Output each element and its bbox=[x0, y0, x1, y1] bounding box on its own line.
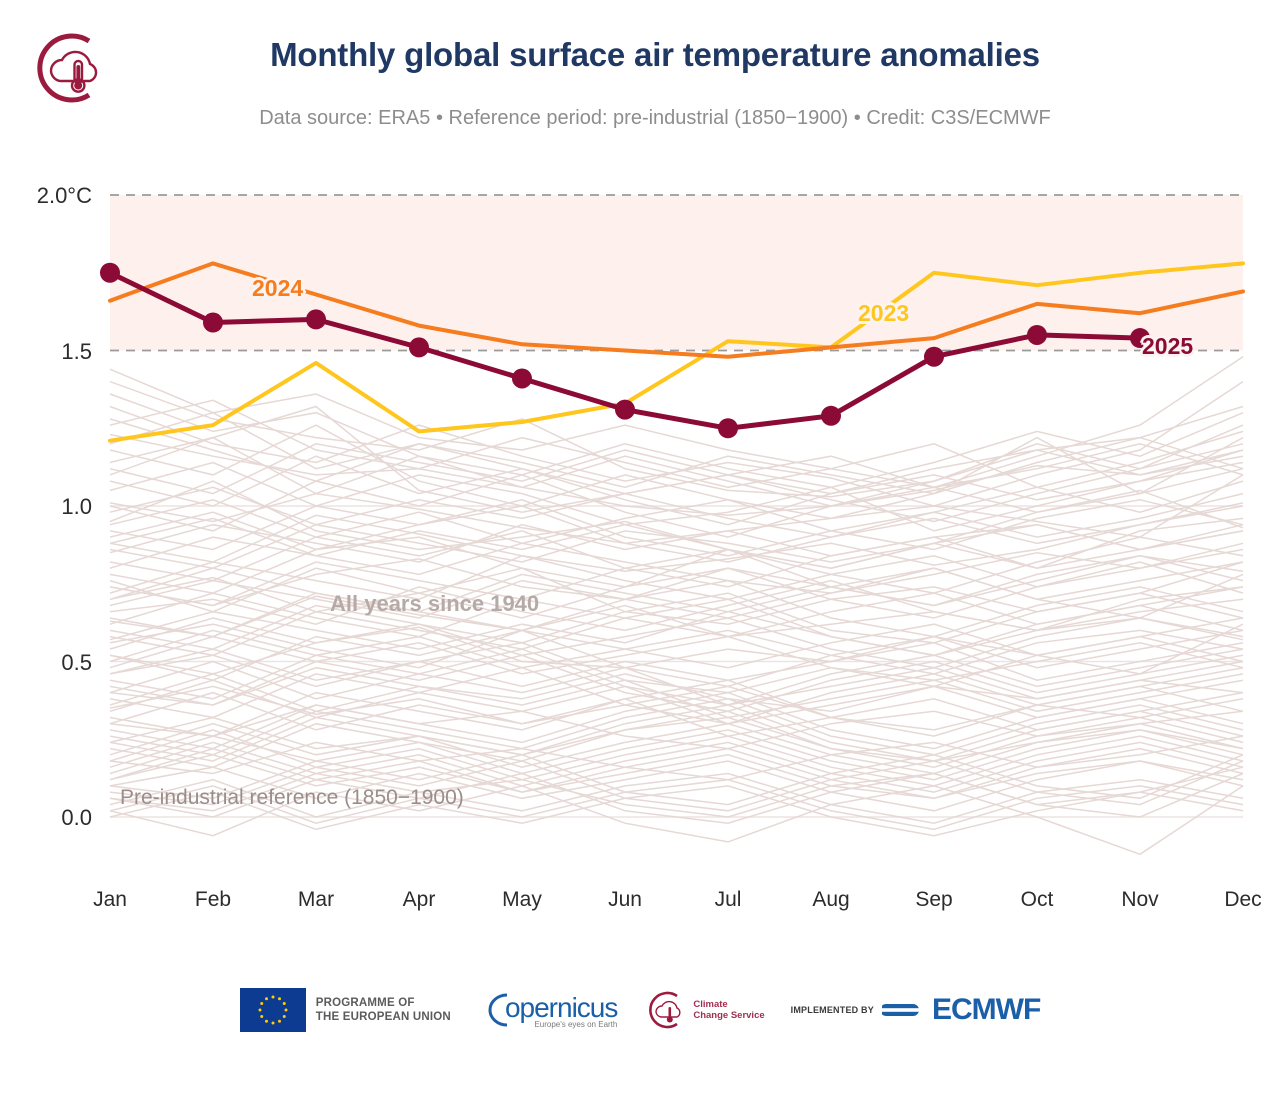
shaded-band bbox=[110, 195, 1243, 351]
c3s-thermometer-icon bbox=[643, 988, 687, 1032]
x-tick-apr: Apr bbox=[374, 888, 464, 912]
series-marker-2025 bbox=[203, 313, 223, 333]
eu-flag-icon bbox=[240, 988, 306, 1032]
c3s-text-line1: Climate bbox=[693, 999, 764, 1010]
ecmwf-wordmark: ECMWF bbox=[932, 993, 1040, 1027]
x-tick-jul: Jul bbox=[683, 888, 773, 912]
y-tick-0.5: 0.5 bbox=[0, 650, 92, 676]
eu-text-line2: THE EUROPEAN UNION bbox=[316, 1010, 451, 1024]
x-tick-may: May bbox=[477, 888, 567, 912]
background-year-line bbox=[110, 518, 1243, 568]
background-year-line bbox=[110, 562, 1243, 612]
x-tick-jun: Jun bbox=[580, 888, 670, 912]
series-marker-2025 bbox=[100, 263, 120, 283]
chart-page: Monthly global surface air temperature a… bbox=[0, 0, 1280, 1097]
series-marker-2025 bbox=[306, 309, 326, 329]
x-tick-sep: Sep bbox=[889, 888, 979, 912]
x-tick-nov: Nov bbox=[1095, 888, 1185, 912]
ecmwf-mark-icon bbox=[882, 995, 924, 1025]
chart-plot-area bbox=[0, 0, 1280, 1097]
series-marker-2025 bbox=[1027, 325, 1047, 345]
series-marker-2025 bbox=[512, 368, 532, 388]
series-marker-2025 bbox=[821, 406, 841, 426]
c3s-text-line2: Change Service bbox=[693, 1010, 764, 1021]
chart-svg bbox=[0, 0, 1280, 1097]
background-year-line bbox=[110, 550, 1243, 600]
y-tick-1.5: 1.5 bbox=[0, 339, 92, 365]
y-tick-0.0: 0.0 bbox=[0, 805, 92, 831]
eu-logo: PROGRAMME OF THE EUROPEAN UNION bbox=[240, 988, 451, 1032]
annotation-pre-industrial: Pre-industrial reference (1850−1900) bbox=[120, 786, 464, 810]
series-marker-2025 bbox=[409, 337, 429, 357]
footer-logos: PROGRAMME OF THE EUROPEAN UNION opernicu… bbox=[0, 975, 1280, 1045]
series-marker-2025 bbox=[924, 347, 944, 367]
y-tick-2.0°C: 2.0°C bbox=[0, 183, 92, 209]
background-year-line bbox=[110, 655, 1243, 711]
copernicus-logo: opernicus Europe's eyes on Earth bbox=[477, 988, 617, 1032]
background-year-line bbox=[110, 742, 1243, 792]
series-marker-2025 bbox=[718, 418, 738, 438]
series-label-2025: 2025 bbox=[1142, 333, 1193, 360]
background-year-lines bbox=[110, 357, 1243, 855]
y-tick-1.0: 1.0 bbox=[0, 494, 92, 520]
c3s-logo: Climate Change Service bbox=[643, 988, 764, 1032]
x-tick-oct: Oct bbox=[992, 888, 1082, 912]
ecmwf-logo: IMPLEMENTED BY ECMWF bbox=[791, 993, 1041, 1027]
series-label-2024: 2024 bbox=[252, 275, 303, 302]
x-tick-feb: Feb bbox=[168, 888, 258, 912]
x-tick-jan: Jan bbox=[65, 888, 155, 912]
background-year-line bbox=[110, 382, 1243, 497]
background-year-line bbox=[110, 587, 1243, 637]
series-marker-2025 bbox=[615, 400, 635, 420]
implemented-by-label: IMPLEMENTED BY bbox=[791, 1005, 874, 1015]
x-tick-dec: Dec bbox=[1198, 888, 1280, 912]
x-tick-aug: Aug bbox=[786, 888, 876, 912]
eu-text-line1: PROGRAMME OF bbox=[316, 996, 451, 1010]
x-tick-mar: Mar bbox=[271, 888, 361, 912]
copernicus-wordmark: opernicus bbox=[505, 992, 617, 1024]
series-label-2023: 2023 bbox=[858, 300, 909, 327]
annotation-all-years: All years since 1940 bbox=[330, 591, 539, 617]
